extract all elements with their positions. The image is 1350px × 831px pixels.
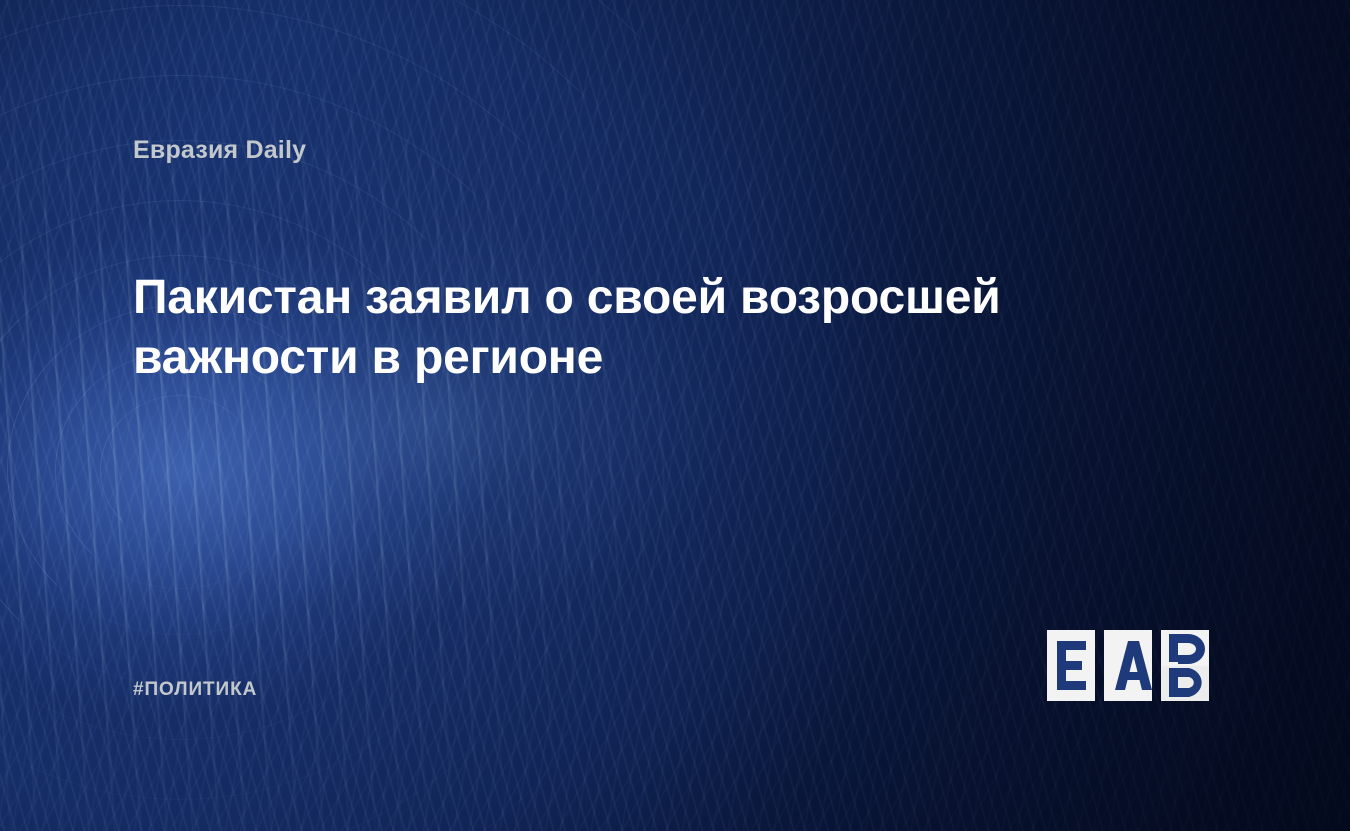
- site-name: Евразия Daily: [133, 136, 306, 165]
- card-content: Евразия Daily Пакистан заявил о своей во…: [0, 0, 1350, 831]
- eadaily-logo: [1047, 630, 1223, 701]
- category-tag-politics[interactable]: #ПОЛИТИКА: [133, 679, 257, 701]
- headline: Пакистан заявил о своей возросшей важнос…: [133, 268, 1133, 388]
- share-card: Евразия Daily Пакистан заявил о своей во…: [0, 0, 1350, 831]
- logo-edge-accents: [1205, 630, 1209, 666]
- logo-letter-e: [1057, 641, 1086, 690]
